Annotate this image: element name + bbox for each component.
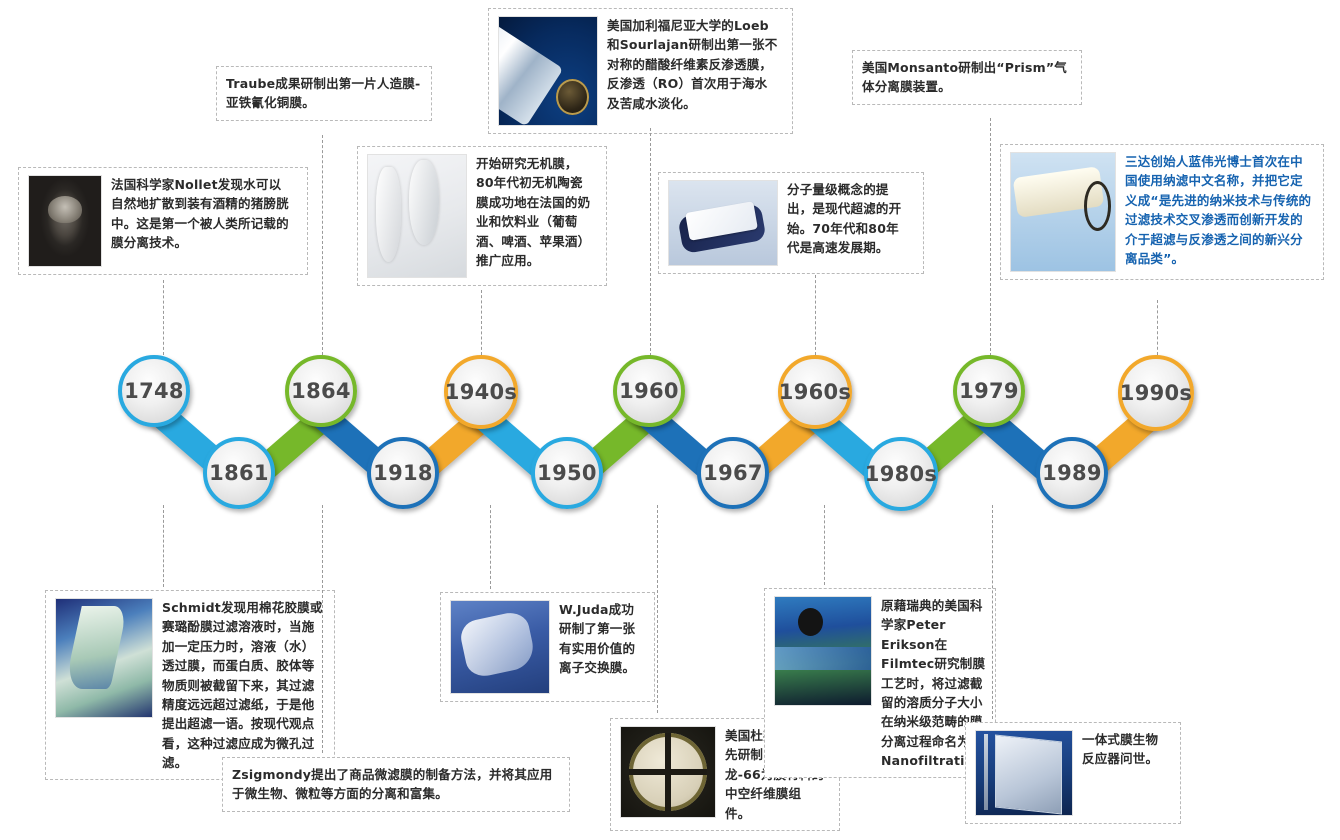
timeline-node-label: 1980s [865, 464, 937, 485]
callout-text: Zsigmondy提出了商品微滤膜的制备方法，并将其应用于微生物、微粒等方面的分… [232, 765, 560, 804]
timeline-node-1960[interactable]: 1960 [613, 355, 685, 427]
timeline-node-1861[interactable]: 1861 [203, 437, 275, 509]
mbr-image [975, 730, 1073, 816]
timeline-node-1864[interactable]: 1864 [285, 355, 357, 427]
callout-text: W.Juda成功研制了第一张有实用价值的离子交换膜。 [559, 600, 639, 678]
nf-rolls-image [1010, 152, 1116, 272]
leader-line-1950 [490, 505, 491, 589]
callout-text: 美国Monsanto研制出“Prism”气体分离膜装置。 [862, 58, 1072, 97]
timeline-node-1989[interactable]: 1989 [1036, 437, 1108, 509]
timeline-node-label: 1960 [619, 381, 679, 402]
timeline-node-label: 1864 [291, 381, 351, 402]
timeline-node-label: 1861 [209, 463, 269, 484]
timeline-node-1990s[interactable]: 1990s [1118, 355, 1194, 431]
leader-line-1990s [1157, 300, 1158, 355]
timeline-node-label: 1960s [779, 382, 851, 403]
ion-exchange-membrane-image [450, 600, 550, 694]
leader-line-1989 [992, 505, 993, 719]
leader-line-1918 [322, 505, 323, 753]
nanofiltration-image [774, 596, 872, 706]
callout-text: 分子量级概念的提出，是现代超滤的开始。70年代和80年代是高速发展期。 [787, 180, 905, 258]
timeline-infographic: 1748 1861 1864 1918 1940s 1950 1960 1967… [0, 0, 1340, 840]
callout-1980s[interactable]: 原藉瑞典的美国科学家Peter Erikson在Filmtec研究制膜工艺时，将… [764, 588, 996, 778]
timeline-node-1748[interactable]: 1748 [118, 355, 190, 427]
callout-1989[interactable]: 一体式膜生物反应器问世。 [965, 722, 1181, 824]
timeline-node-1940s[interactable]: 1940s [444, 355, 518, 429]
callout-1950[interactable]: W.Juda成功研制了第一张有实用价值的离子交换膜。 [440, 592, 655, 702]
timeline-node-label: 1967 [703, 463, 763, 484]
callout-text: 一体式膜生物反应器问世。 [1082, 730, 1168, 769]
nollet-portrait-image [28, 175, 102, 267]
crosshair-overlay [665, 733, 671, 810]
callout-text: Traube成果研制出第一片人造膜-亚铁氰化铜膜。 [226, 74, 422, 113]
leader-line-1967 [657, 505, 658, 713]
timeline-node-1960s[interactable]: 1960s [778, 355, 852, 429]
callout-1990s[interactable]: 三达创始人蓝伟光博士首次在中国使用纳滤中文名称，并把它定义成“是先进的纳米技术与… [1000, 144, 1324, 280]
leader-line-1864 [322, 135, 323, 355]
leader-line-1748 [163, 280, 164, 355]
timeline-node-label: 1918 [373, 463, 433, 484]
timeline-node-1967[interactable]: 1967 [697, 437, 769, 509]
ro-membrane-image [498, 16, 598, 126]
leader-line-1980s [824, 505, 825, 585]
hollow-fiber-module-image [620, 726, 716, 818]
timeline-node-1980s[interactable]: 1980s [864, 437, 938, 511]
uf-membrane-image [668, 180, 778, 266]
callout-1864[interactable]: Traube成果研制出第一片人造膜-亚铁氰化铜膜。 [216, 66, 432, 121]
callout-text: 三达创始人蓝伟光博士首次在中国使用纳滤中文名称，并把它定义成“是先进的纳米技术与… [1125, 152, 1314, 268]
callout-1979[interactable]: 美国Monsanto研制出“Prism”气体分离膜装置。 [852, 50, 1082, 105]
callout-text: 法国科学家Nollet发现水可以自然地扩散到装有酒精的猪膀胱中。这是第一个被人类… [111, 175, 289, 253]
leader-line-1960 [650, 128, 651, 356]
callout-1940s[interactable]: 开始研究无机膜，80年代初无机陶瓷膜成功地在法国的奶业和饮料业（葡萄酒、啤酒、苹… [357, 146, 607, 286]
callout-1918[interactable]: Zsigmondy提出了商品微滤膜的制备方法，并将其应用于微生物、微粒等方面的分… [222, 757, 570, 812]
ceramic-membrane-image [367, 154, 467, 278]
callout-1960[interactable]: 美国加利福尼亚大学的Loeb和Sourlajan研制出第一张不对称的醋酸纤维素反… [488, 8, 793, 134]
timeline-node-label: 1979 [959, 381, 1019, 402]
schmidt-membrane-image [55, 598, 153, 718]
callout-1861[interactable]: Schmidt发现用棉花胶膜或赛璐酚膜过滤溶液时，当施加一定压力时，溶液（水）透… [45, 590, 335, 780]
timeline-node-label: 1940s [445, 382, 517, 403]
callout-text: Schmidt发现用棉花胶膜或赛璐酚膜过滤溶液时，当施加一定压力时，溶液（水）透… [162, 598, 325, 772]
leader-line-1861 [163, 505, 164, 587]
timeline-node-label: 1989 [1042, 463, 1102, 484]
timeline-node-label: 1950 [537, 463, 597, 484]
leader-line-1960s [815, 275, 816, 355]
callout-text: 开始研究无机膜，80年代初无机陶瓷膜成功地在法国的奶业和饮料业（葡萄酒、啤酒、苹… [476, 154, 592, 270]
callout-text: 美国加利福尼亚大学的Loeb和Sourlajan研制出第一张不对称的醋酸纤维素反… [607, 16, 779, 113]
timeline-node-1950[interactable]: 1950 [531, 437, 603, 509]
callout-1748[interactable]: 法国科学家Nollet发现水可以自然地扩散到装有酒精的猪膀胱中。这是第一个被人类… [18, 167, 308, 275]
callout-1960s[interactable]: 分子量级概念的提出，是现代超滤的开始。70年代和80年代是高速发展期。 [658, 172, 924, 274]
leader-line-1940s [481, 290, 482, 355]
timeline-node-1918[interactable]: 1918 [367, 437, 439, 509]
timeline-node-label: 1748 [124, 381, 184, 402]
timeline-node-label: 1990s [1120, 383, 1192, 404]
timeline-node-1979[interactable]: 1979 [953, 355, 1025, 427]
leader-line-1979 [990, 118, 991, 356]
